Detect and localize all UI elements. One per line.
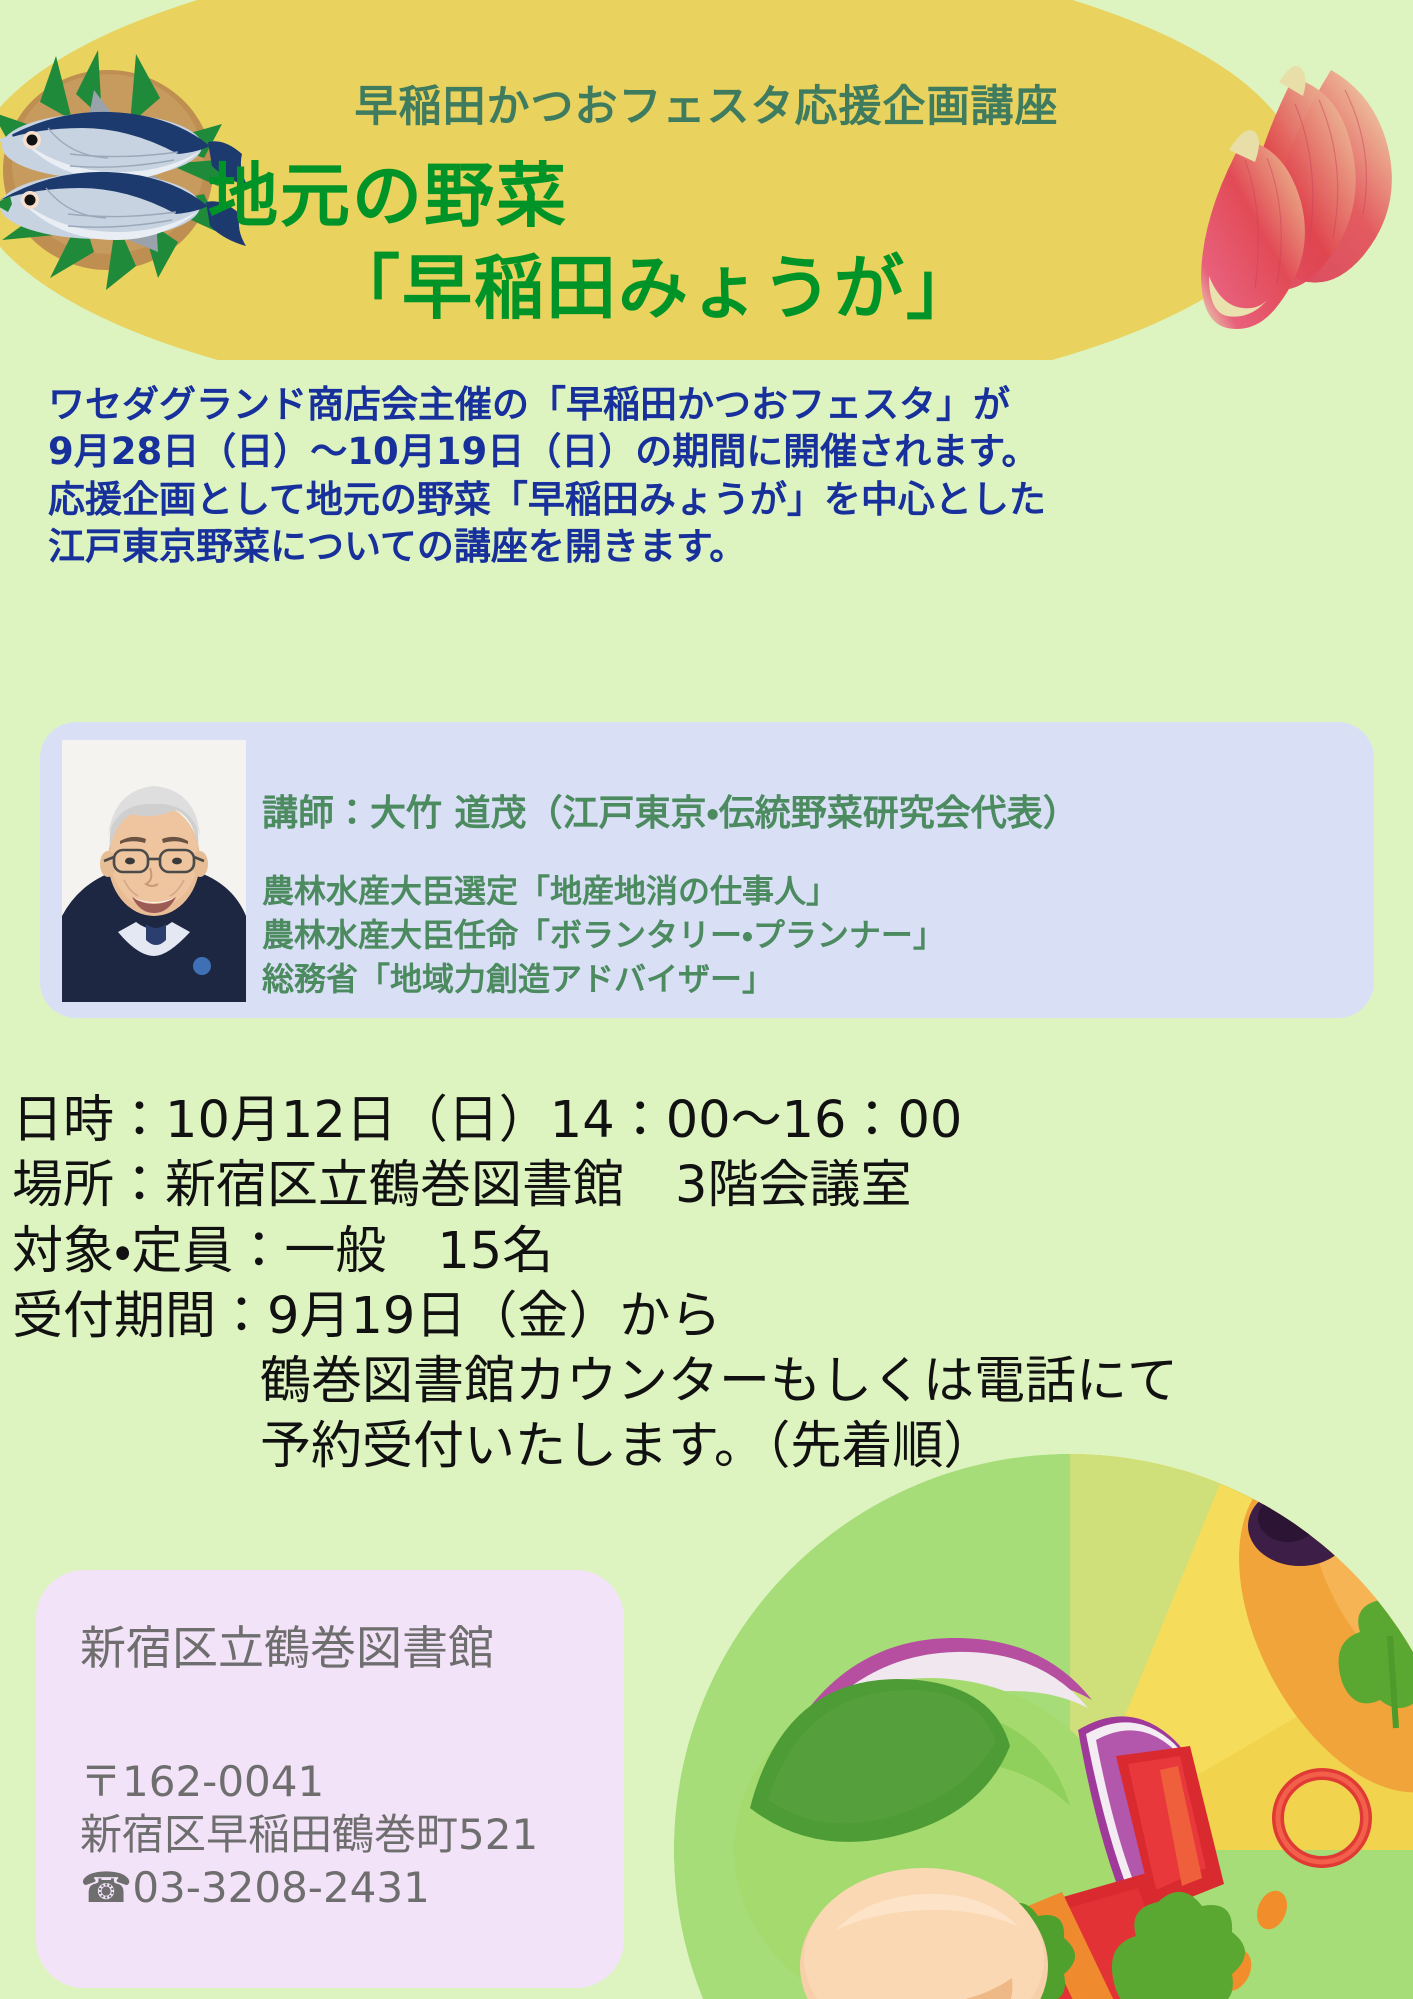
lecturer-portrait-photo [62,740,246,1002]
lecturer-name: 講師：大竹 道茂（江戸東京・伝統野菜研究会代表） [262,784,1079,836]
detail-registration-period: 受付期間：9月19日（金）から [12,1284,1402,1349]
detail-venue: 場所：新宿区立鶴巻図書館 3階会議室 [12,1153,1402,1218]
lecturer-credentials: 農林水産大臣選定「地産地消の仕事人」 農林水産大臣任命「ボランタリー・プランナー… [262,870,945,1001]
poster-root: 早稲田かつおフェスタ応援企画講座 地元の野菜 「早稲田みょうが」 ワセダグランド… [0,0,1413,1999]
detail-datetime: 日時：10月12日（日）14：00〜16：00 [12,1088,1402,1153]
credential-3: 総務省「地域力創造アドバイザー」 [262,958,945,1002]
event-details: 日時：10月12日（日）14：00〜16：00 場所：新宿区立鶴巻図書館 3階会… [12,1088,1402,1480]
intro-line-1: ワセダグランド商店会主催の「早稲田かつおフェスタ」が [48,381,1108,428]
library-contact-lines: 〒162-0041 新宿区早稲田鶴巻町521 ☎03-3208-2431 [80,1756,538,1915]
phone-number: ☎03-3208-2431 [80,1862,538,1915]
lecturer-info-box: 講師：大竹 道茂（江戸東京・伝統野菜研究会代表） 農林水産大臣選定「地産地消の仕… [40,722,1374,1018]
detail-registration-method: 鶴巻図書館カウンターもしくは電話にて [12,1349,1402,1414]
header-subtitle: 早稲田かつおフェスタ応援企画講座 [0,72,1413,134]
postal-code: 〒162-0041 [80,1756,538,1809]
header-title-line1: 地元の野菜 [208,140,568,241]
poster-header: 早稲田かつおフェスタ応援企画講座 地元の野菜 「早稲田みょうが」 [0,0,1413,360]
credential-2: 農林水産大臣任命「ボランタリー・プランナー」 [262,914,945,958]
intro-line-3: 応援企画として地元の野菜「早稲田みょうが」を中心とした [48,476,1108,523]
header-title-line2: 「早稲田みょうが」 [330,232,978,333]
detail-audience-capacity: 対象・定員：一般 15名 [12,1219,1402,1284]
intro-paragraph: ワセダグランド商店会主催の「早稲田かつおフェスタ」が 9月28日（日）〜10月1… [48,381,1108,570]
street-address: 新宿区早稲田鶴巻町521 [80,1809,538,1862]
vegetable-bowl-illustration [600,1430,1413,1999]
library-address-box: 新宿区立鶴巻図書館 〒162-0041 新宿区早稲田鶴巻町521 ☎03-320… [36,1570,624,1988]
credential-1: 農林水産大臣選定「地産地消の仕事人」 [262,870,945,914]
myoga-ginger-illustration [1183,8,1413,348]
library-name: 新宿区立鶴巻図書館 [80,1612,494,1678]
intro-line-2: 9月28日（日）〜10月19日（日）の期間に開催されます。 [48,428,1108,475]
intro-line-4: 江戸東京野菜についての講座を開きます。 [48,523,1108,570]
